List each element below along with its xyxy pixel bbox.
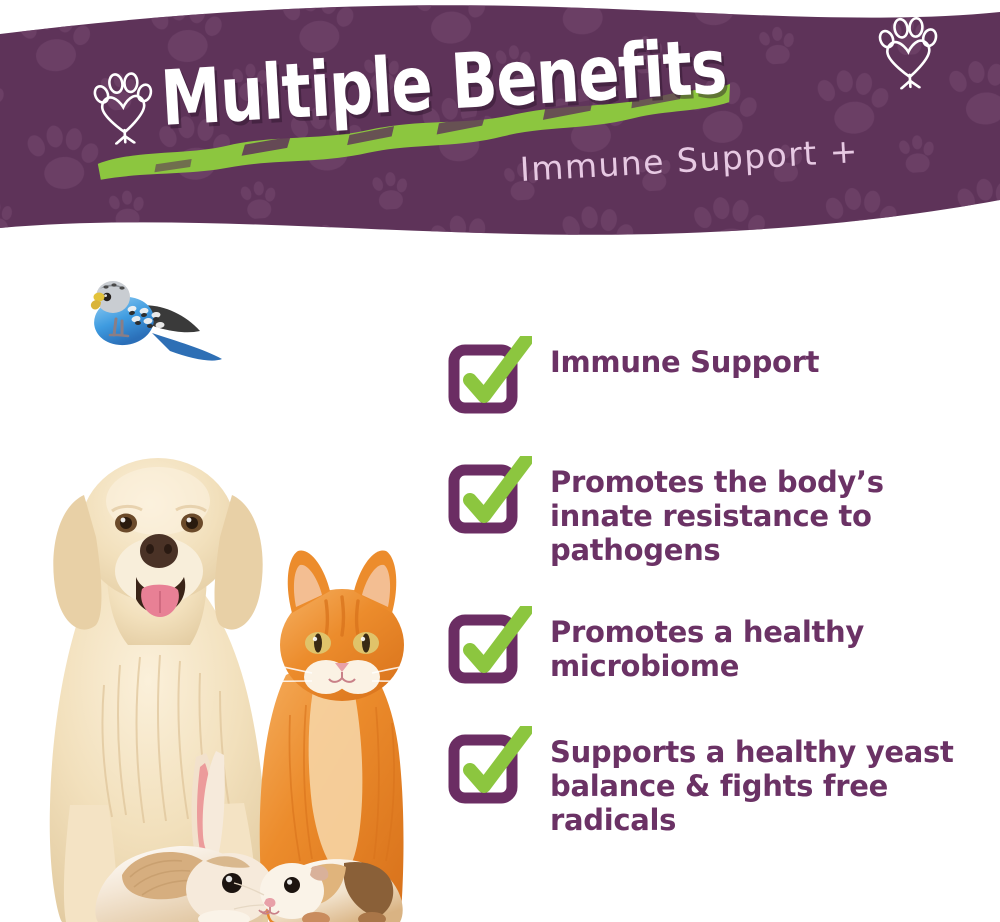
budgie-parakeet	[91, 281, 222, 361]
paw-heart-icon	[875, 9, 941, 90]
animal-collage-image	[0, 245, 440, 922]
checked-checkbox-icon[interactable]	[448, 336, 532, 414]
checked-checkbox-icon[interactable]	[448, 726, 532, 804]
benefits-list: Immune Support Promotes the body’s innat…	[448, 340, 993, 838]
banner-content: Multiple Benefits Immune Support +	[0, 0, 1000, 245]
list-item-label: Supports a healthy yeast balance & fight…	[550, 730, 980, 838]
list-item: Supports a healthy yeast balance & fight…	[448, 730, 993, 838]
list-item: Promotes the body’s innate resistance to…	[448, 460, 993, 568]
list-item-label: Immune Support	[550, 340, 819, 380]
list-item-label: Promotes the body’s innate resistance to…	[550, 460, 980, 568]
list-item: Promotes a healthy microbiome	[448, 610, 993, 688]
header-banner: Multiple Benefits Immune Support +	[0, 0, 1000, 245]
infographic-page: Multiple Benefits Immune Support +	[0, 0, 1000, 922]
list-item-label: Promotes a healthy microbiome	[550, 610, 980, 684]
list-item: Immune Support	[448, 340, 993, 418]
checked-checkbox-icon[interactable]	[448, 606, 532, 684]
page-title: Multiple Benefits	[156, 31, 728, 136]
main-content: Immune Support Promotes the body’s innat…	[0, 245, 1000, 922]
checked-checkbox-icon[interactable]	[448, 456, 532, 534]
paw-heart-icon	[90, 64, 156, 145]
